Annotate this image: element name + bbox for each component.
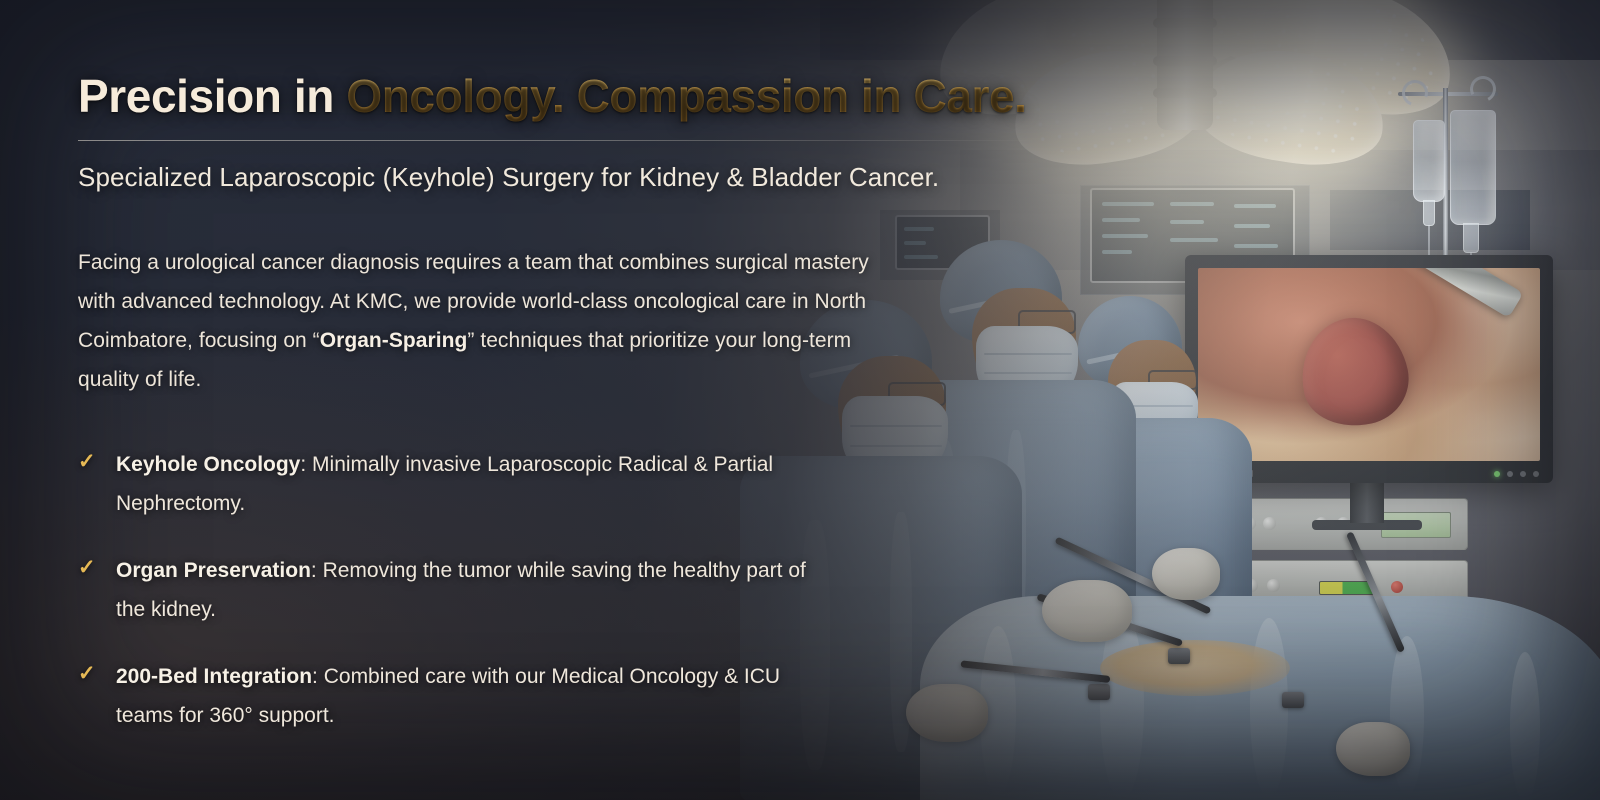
hero-content: Precision in Oncology. Compassion in Car… (78, 72, 1078, 735)
iv-bottle-neck (1423, 200, 1435, 226)
trocar-port (1168, 648, 1190, 664)
page-subtitle: Specialized Laparoscopic (Keyhole) Surge… (78, 162, 1078, 193)
list-item-label: Organ Preservation (116, 559, 311, 582)
list-item-text: Keyhole Oncology: Minimally invasive Lap… (116, 445, 836, 523)
check-icon: ✓ (78, 447, 104, 477)
incision-site (1100, 640, 1290, 696)
light-arm-ring (1153, 56, 1217, 66)
light-arm-ring (1153, 18, 1217, 28)
list-item: ✓ Keyhole Oncology: Minimally invasive L… (78, 445, 1078, 523)
iv-bottle-neck (1463, 223, 1479, 253)
list-item-separator: : (300, 453, 312, 476)
feature-list: ✓ Keyhole Oncology: Minimally invasive L… (78, 445, 1078, 735)
list-item-text: 200-Bed Integration: Combined care with … (116, 657, 836, 735)
list-item-separator: : (312, 665, 324, 688)
list-item-label: Keyhole Oncology (116, 453, 300, 476)
iv-bottle (1450, 110, 1496, 225)
hero-banner: Precision in Oncology. Compassion in Car… (0, 0, 1600, 800)
list-item-label: 200-Bed Integration (116, 665, 312, 688)
check-icon: ✓ (78, 553, 104, 583)
trocar-port (1282, 692, 1304, 708)
list-item-separator: : (311, 559, 323, 582)
paragraph-emphasis: Organ-Sparing (320, 329, 468, 352)
iv-bottle (1413, 120, 1445, 202)
laparoscopic-video-feed (1198, 268, 1540, 461)
list-item: ✓ 200-Bed Integration: Combined care wit… (78, 657, 1078, 735)
headline-part-light: Precision in (78, 70, 346, 122)
surgical-glove (1152, 548, 1220, 600)
headline-part-accent: Oncology. Compassion in Care. (346, 70, 1026, 122)
laparoscopic-instrument-shaft (1397, 268, 1523, 318)
monitor-indicator-leds (1494, 471, 1539, 477)
title-divider (78, 140, 1038, 141)
light-arm-ring (1153, 88, 1217, 98)
monitor-stand (1350, 483, 1384, 523)
surgical-glove (1336, 722, 1410, 776)
check-icon: ✓ (78, 659, 104, 689)
intro-paragraph: Facing a urological cancer diagnosis req… (78, 243, 908, 399)
kidney-tissue (1291, 308, 1417, 436)
page-title: Precision in Oncology. Compassion in Car… (78, 72, 1078, 122)
list-item: ✓ Organ Preservation: Removing the tumor… (78, 551, 1078, 629)
trocar-port (1088, 684, 1110, 700)
list-item-text: Organ Preservation: Removing the tumor w… (116, 551, 836, 629)
